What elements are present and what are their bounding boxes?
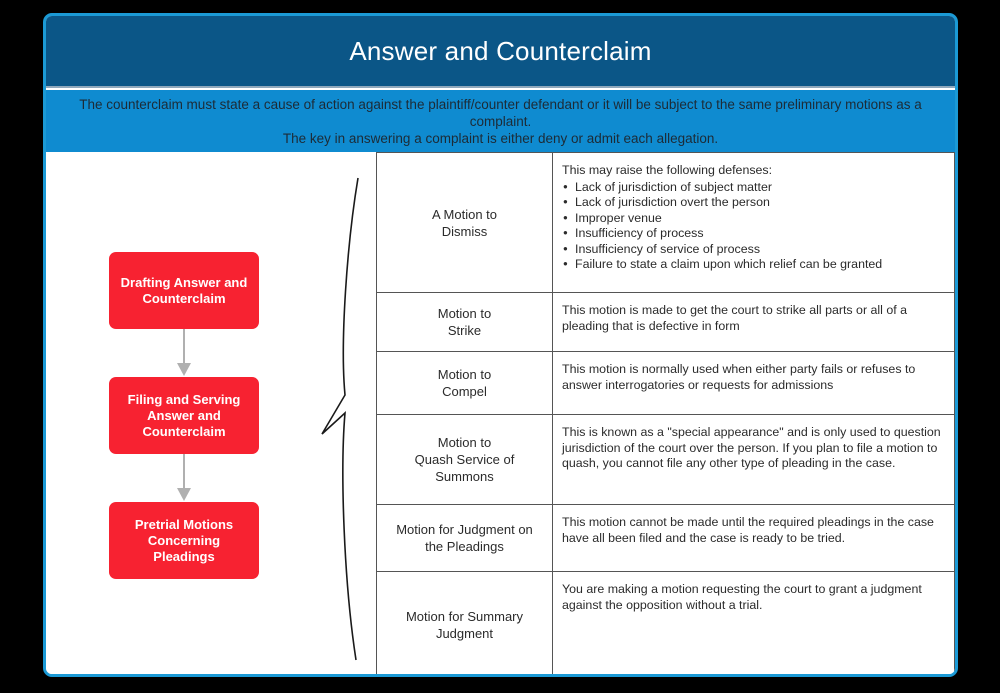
subtitle-line-1: The counterclaim must state a cause of a… xyxy=(62,96,939,130)
flow-connector-arrow-2 xyxy=(177,454,191,502)
motion-name-strike: Motion to Strike xyxy=(377,293,553,351)
flow-connector-arrow-1 xyxy=(177,329,191,377)
table-row: A Motion to Dismiss This may raise the f… xyxy=(377,153,954,293)
down-arrow-icon xyxy=(177,363,191,376)
connector-stem xyxy=(183,329,185,365)
subtitle-band: The counterclaim must state a cause of a… xyxy=(46,90,955,152)
motion-description-quash: This is known as a "special appearance" … xyxy=(553,415,954,504)
motion-description-strike: This motion is made to get the court to … xyxy=(553,293,954,351)
subtitle-line-2: The key in answering a complaint is eith… xyxy=(283,130,718,147)
table-row: Motion for Judgment on the Pleadings Thi… xyxy=(377,505,954,572)
motion-name-compel: Motion to Compel xyxy=(377,352,553,414)
motion-description-dismiss: This may raise the following defenses: L… xyxy=(553,153,954,292)
table-row: Motion to Compel This motion is normally… xyxy=(377,352,954,415)
motion-name-dismiss: A Motion to Dismiss xyxy=(377,153,553,292)
motion-description-summary-judgment: You are making a motion requesting the c… xyxy=(553,572,954,677)
table-row: Motion for Summary Judgment You are maki… xyxy=(377,572,954,677)
page-title: Answer and Counterclaim xyxy=(349,36,651,67)
list-item: Lack of jurisdiction overt the person xyxy=(562,195,945,211)
list-item: Lack of jurisdiction of subject matter xyxy=(562,180,945,196)
flow-box-drafting-answer[interactable]: Drafting Answer and Counterclaim xyxy=(109,252,259,329)
flow-box-filing-serving[interactable]: Filing and Serving Answer and Countercla… xyxy=(109,377,259,454)
motion-name-quash: Motion to Quash Service of Summons xyxy=(377,415,553,504)
poster-card: Answer and Counterclaim The counterclaim… xyxy=(43,13,958,677)
defenses-list: Lack of jurisdiction of subject matter L… xyxy=(562,180,945,273)
connector-stem xyxy=(183,454,185,490)
motions-table: A Motion to Dismiss This may raise the f… xyxy=(376,152,955,677)
down-arrow-icon xyxy=(177,488,191,501)
curly-brace-icon xyxy=(261,152,381,677)
flow-box-pretrial-motions[interactable]: Pretrial Motions Concerning Pleadings xyxy=(109,502,259,579)
poster-root: { "header": { "title": "Answer and Count… xyxy=(0,0,1000,693)
list-item: Insufficiency of process xyxy=(562,226,945,242)
description-intro: This may raise the following defenses: xyxy=(562,163,945,179)
body-area: Drafting Answer and Counterclaim Filing … xyxy=(46,152,955,677)
table-row: Motion to Strike This motion is made to … xyxy=(377,293,954,352)
motion-name-judgment-pleadings: Motion for Judgment on the Pleadings xyxy=(377,505,553,571)
title-band: Answer and Counterclaim xyxy=(46,16,955,88)
motion-description-compel: This motion is normally used when either… xyxy=(553,352,954,414)
table-row: Motion to Quash Service of Summons This … xyxy=(377,415,954,505)
list-item: Insufficiency of service of process xyxy=(562,242,945,258)
list-item: Failure to state a claim upon which reli… xyxy=(562,257,945,273)
motion-description-judgment-pleadings: This motion cannot be made until the req… xyxy=(553,505,954,571)
motion-name-summary-judgment: Motion for Summary Judgment xyxy=(377,572,553,677)
list-item: Improper venue xyxy=(562,211,945,227)
